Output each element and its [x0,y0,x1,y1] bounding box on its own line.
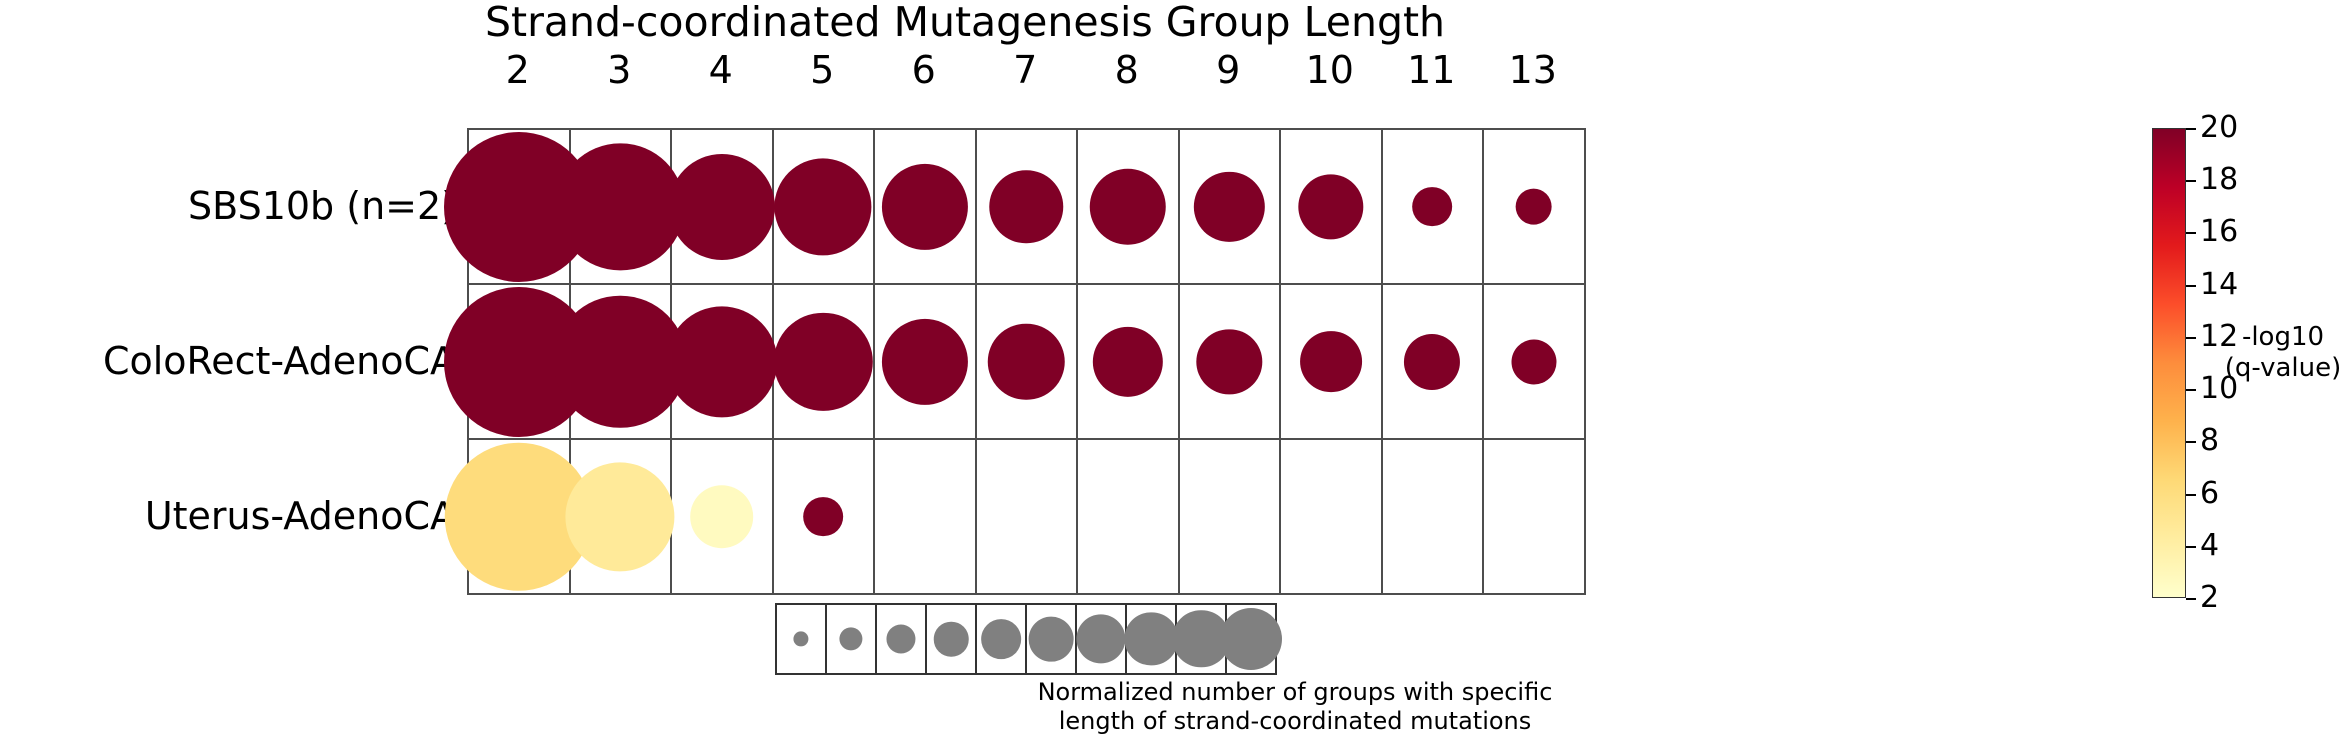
bubble-cell[interactable] [774,440,876,595]
bubble-cell[interactable] [1078,130,1180,285]
row-label-sbs10b-n-2: SBS10b (n=2) [0,128,462,283]
bubble-cell[interactable] [672,130,774,285]
column-header-3: 3 [569,48,671,92]
bubble-marker [566,462,675,571]
size-legend-bubble [981,619,1021,659]
bubble-marker [1090,168,1166,244]
column-header-9: 9 [1178,48,1280,92]
bubble-marker [774,312,872,410]
bubble-marker [1194,171,1264,241]
bubble-marker [882,318,968,404]
colorbar-label-line2: (q-value) [2218,353,2348,384]
bubble-cell[interactable] [977,440,1079,595]
size-legend-cell [877,605,927,675]
row-label-colorect-adenoca: ColoRect-AdenoCA [0,283,462,438]
colorbar-tick-label-20: 20 [2200,113,2238,143]
column-header-7: 7 [975,48,1077,92]
size-legend-caption: Normalized number of groups with specifi… [810,678,1780,736]
bubble-cell[interactable] [875,285,977,440]
bubble-cell[interactable] [875,130,977,285]
row-label-uterus-adenoca: Uterus-AdenoCA [0,438,462,593]
size-legend-cell [777,605,827,675]
size-legend-cell [1127,605,1177,675]
colorbar-tick [2186,494,2196,496]
size-legend-caption-line1: Normalized number of groups with specifi… [810,678,1780,707]
page-title: Strand-coordinated Mutagenesis Group Len… [0,2,1930,43]
size-legend-cell [1227,605,1277,675]
bubble-marker [988,323,1064,399]
colorbar-tick-label-18: 18 [2200,165,2238,195]
bubble-cell[interactable] [1180,440,1282,595]
colorbar-tick [2186,232,2196,234]
bubble-cell[interactable] [672,440,774,595]
bubble-marker [666,306,777,417]
bubble-marker [669,153,775,259]
size-legend-caption-line2: length of strand-coordinated mutations [810,707,1780,736]
colorbar-tick [2186,128,2196,130]
colorbar-tick [2186,180,2196,182]
bubble-grid-row [469,440,1586,595]
colorbar-tick-label-4: 4 [2200,531,2219,561]
bubble-cell[interactable] [977,130,1079,285]
column-header-6: 6 [873,48,975,92]
colorbar-tick [2186,285,2196,287]
column-header-5: 5 [772,48,874,92]
colorbar-axis-label: -log10 (q-value) [2218,322,2348,384]
row-label-column: SBS10b (n=2)ColoRect-AdenoCAUterus-Adeno… [0,128,462,593]
column-header-13: 13 [1482,48,1584,92]
bubble-cell[interactable] [1180,285,1282,440]
column-header-row: 23456789101113 [467,48,1584,92]
size-legend-bubble [1077,614,1126,663]
column-header-2: 2 [467,48,569,92]
bubble-cell[interactable] [1078,285,1180,440]
colorbar-gradient [2152,128,2186,598]
bubble-cell[interactable] [672,285,774,440]
colorbar-tick-label-14: 14 [2200,270,2238,300]
size-legend-cell [977,605,1027,675]
bubble-cell[interactable] [774,285,876,440]
bubble-grid-row [469,130,1586,285]
bubble-marker [1093,326,1163,396]
colorbar-tick [2186,337,2196,339]
bubble-cell[interactable] [875,440,977,595]
bubble-cell[interactable] [1281,285,1383,440]
bubble-marker [690,485,754,549]
bubble-cell[interactable] [1484,440,1586,595]
bubble-marker [882,163,968,249]
colorbar-tick [2186,598,2196,600]
bubble-cell[interactable] [1281,130,1383,285]
colorbar-tick [2186,389,2196,391]
colorbar-tick-label-6: 6 [2200,479,2219,509]
bubble-marker [1197,329,1262,394]
bubble-cell[interactable] [1484,130,1586,285]
bubble-marker [1511,339,1556,384]
bubble-cell[interactable] [1078,440,1180,595]
bubble-cell[interactable] [571,285,673,440]
bubble-cell[interactable] [774,130,876,285]
bubble-cell[interactable] [469,440,571,595]
bubble-cell[interactable] [1383,440,1485,595]
column-header-11: 11 [1381,48,1483,92]
bubble-marker [1412,187,1452,227]
bubble-marker [1515,188,1552,225]
bubble-chart-figure: Strand-coordinated Mutagenesis Group Len… [0,0,2348,745]
bubble-marker [557,143,684,270]
bubble-cell[interactable] [1383,130,1485,285]
bubble-marker [1404,333,1460,389]
size-legend-cell [827,605,877,675]
size-legend-bubble [934,622,969,657]
bubble-cell[interactable] [1484,285,1586,440]
bubble-cell[interactable] [977,285,1079,440]
colorbar-tick-label-8: 8 [2200,426,2219,456]
column-header-8: 8 [1076,48,1178,92]
colorbar-tick [2186,546,2196,548]
bubble-cell[interactable] [1383,285,1485,440]
size-legend-bubble [840,627,863,650]
bubble-cell[interactable] [1281,440,1383,595]
size-legend-bubble [1029,617,1074,662]
bubble-marker [1300,331,1362,393]
bubble-marker [775,158,872,255]
bubble-cell[interactable] [571,130,673,285]
size-legend-bubble [887,624,916,653]
size-legend-cell [927,605,977,675]
colorbar: 2468101214161820 [2152,128,2186,598]
size-legend-bubble [1220,608,1282,670]
column-header-4: 4 [670,48,772,92]
colorbar-tick-label-2: 2 [2200,583,2219,613]
size-legend [775,603,1277,675]
bubble-marker [1298,174,1363,239]
size-legend-bubble [794,631,809,646]
bubble-grid-row [469,285,1586,440]
colorbar-label-line1: -log10 [2218,322,2348,353]
colorbar-tick [2186,441,2196,443]
size-legend-cell [1027,605,1077,675]
column-header-10: 10 [1279,48,1381,92]
bubble-cell[interactable] [571,440,673,595]
bubble-cell[interactable] [1180,130,1282,285]
colorbar-tick-label-16: 16 [2200,217,2238,247]
size-legend-bubble [1125,612,1178,665]
bubble-marker [990,170,1063,243]
bubble-marker [803,497,843,537]
size-legend-cell [1077,605,1127,675]
bubble-grid [467,128,1586,595]
bubble-cell[interactable] [469,130,571,285]
